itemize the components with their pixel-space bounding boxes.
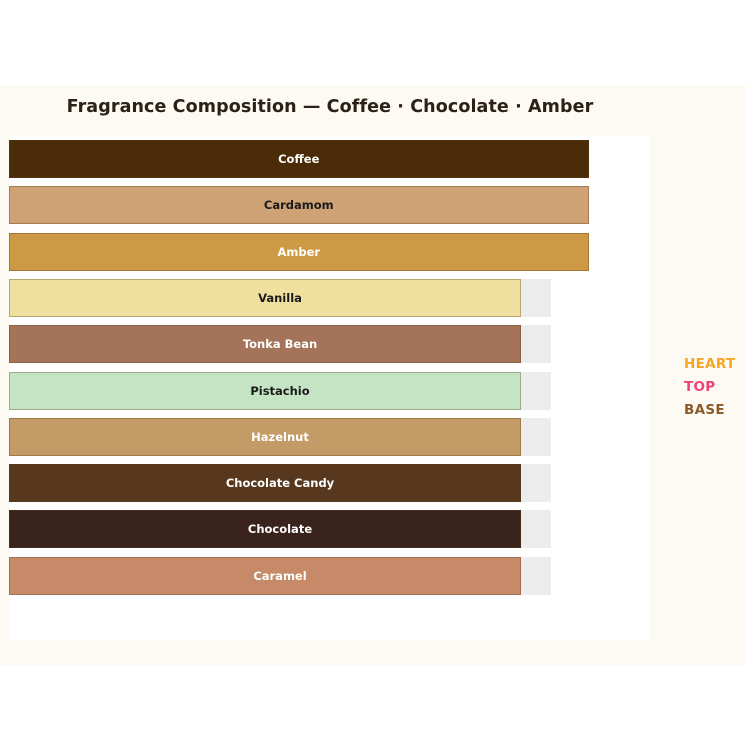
bar-fill[interactable] — [9, 372, 521, 410]
bar-row[interactable]: Coffee — [9, 136, 649, 182]
bar-fill[interactable] — [9, 464, 521, 502]
bar-row[interactable]: Vanilla — [9, 275, 649, 321]
bar-fill[interactable] — [9, 325, 521, 363]
legend-entry-base[interactable]: BASE — [684, 399, 742, 422]
bar-fill[interactable] — [9, 557, 521, 595]
bar-fill[interactable] — [9, 140, 589, 178]
bar-row[interactable]: Pistachio — [9, 368, 649, 414]
bar-row[interactable]: Chocolate Candy — [9, 460, 649, 506]
bar-row[interactable]: Tonka Bean — [9, 321, 649, 367]
bar-row[interactable]: Caramel — [9, 553, 649, 599]
bar-row[interactable]: Amber — [9, 229, 649, 275]
bar-row[interactable]: Hazelnut — [9, 414, 649, 460]
legend-entry-top[interactable]: TOP — [684, 376, 742, 399]
bar-row[interactable]: Chocolate — [9, 506, 649, 552]
plot-panel: CoffeeCardamomAmberVanillaTonka BeanPist… — [9, 136, 649, 640]
bar-fill[interactable] — [9, 418, 521, 456]
chart-figure: Fragrance Composition — Coffee · Chocola… — [0, 85, 746, 665]
chart-title: Fragrance Composition — Coffee · Chocola… — [0, 97, 660, 117]
legend-entry-heart[interactable]: HEART — [684, 353, 742, 376]
chart-legend: HEARTTOPBASE — [684, 353, 742, 422]
bar-fill[interactable] — [9, 233, 589, 271]
bar-fill[interactable] — [9, 186, 589, 224]
bar-row[interactable]: Cardamom — [9, 182, 649, 228]
bar-fill[interactable] — [9, 510, 521, 548]
bar-fill[interactable] — [9, 279, 521, 317]
